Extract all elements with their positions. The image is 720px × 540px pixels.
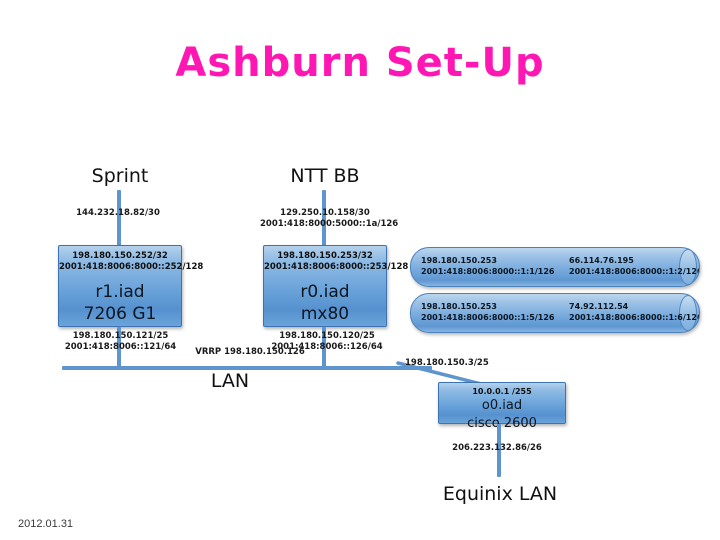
router-r1-loopback-v4: 198.180.150.252/32 (59, 251, 181, 262)
tunnel-2-local-v6: 2001:418:8006:8000::1:5/126 (421, 312, 554, 323)
router-r0-loopback-v6: 2001:418:8006:8000::253/128 (264, 262, 386, 273)
router-o0-name: o0.iad (439, 397, 565, 415)
link-label-o0-v4: 198.180.150.3/25 (405, 358, 489, 369)
router-r1[interactable]: 198.180.150.252/32 2001:418:8006:8000::2… (58, 245, 182, 327)
router-r0-model: mx80 (264, 303, 386, 325)
tunnel-2-remote-v6: 2001:418:8006:8000::1:6/126 (569, 312, 700, 323)
router-o0-addr: 10.0.0.1 /255 (439, 386, 565, 397)
slide-canvas: Ashburn Set-Up Sprint 144.232.18.82/30 N… (0, 0, 720, 540)
tunnel-1-remote-v4: 66.114.76.195 (569, 255, 700, 266)
lan-label-r1-v4: 198.180.150.121/25 (58, 331, 183, 342)
router-r0[interactable]: 198.180.150.253/32 2001:418:8006:8000::2… (263, 245, 387, 327)
router-o0-model: cisco 2600 (439, 415, 565, 433)
link-label-ntt-v4: 129.250.10.158/30 (260, 208, 390, 219)
router-r1-model: 7206 G1 (59, 303, 181, 325)
lan-label-r1-v6: 2001:418:8006::121/64 (58, 342, 183, 353)
peer-label-ntt: NTT BB (265, 165, 385, 187)
tunnel-2-remote-v4: 74.92.112.54 (569, 301, 700, 312)
router-r1-loopback-v6: 2001:418:8006:8000::252/128 (59, 262, 181, 273)
peer-label-equinix: Equinix LAN (430, 483, 570, 505)
lan-label-vrrp: VRRP 198.180.150.126 (180, 347, 320, 358)
tunnel-1-local-v6: 2001:418:8006:8000::1:1/126 (421, 266, 554, 277)
tunnel-2-local-v4: 198.180.150.253 (421, 301, 554, 312)
footer-date: 2012.01.31 (18, 518, 73, 530)
link-label-sprint-v4: 144.232.18.82/30 (58, 208, 178, 219)
router-r0-name: r0.iad (264, 281, 386, 303)
tunnel-2[interactable]: 198.180.150.253 2001:418:8006:8000::1:5/… (410, 293, 700, 333)
tunnel-1-remote-v6: 2001:418:8006:8000::1:2/126 (569, 266, 700, 277)
link-label-equinix-v4: 206.223.132.86/26 (432, 443, 562, 454)
router-r1-name: r1.iad (59, 281, 181, 303)
tunnel-1[interactable]: 198.180.150.253 2001:418:8006:8000::1:1/… (410, 247, 700, 287)
router-r0-loopback-v4: 198.180.150.253/32 (264, 251, 386, 262)
page-title: Ashburn Set-Up (0, 40, 720, 86)
peer-label-sprint: Sprint (60, 165, 180, 187)
lan-label-r0-v4: 198.180.150.120/25 (262, 331, 392, 342)
link-sprint-to-r1 (117, 190, 121, 248)
lan-label: LAN (170, 370, 290, 392)
router-o0[interactable]: 10.0.0.1 /255 o0.iad cisco 2600 (438, 382, 566, 424)
tunnel-1-local-v4: 198.180.150.253 (421, 255, 554, 266)
link-label-ntt-v6: 2001:418:8000:5000::1a/126 (260, 219, 390, 230)
